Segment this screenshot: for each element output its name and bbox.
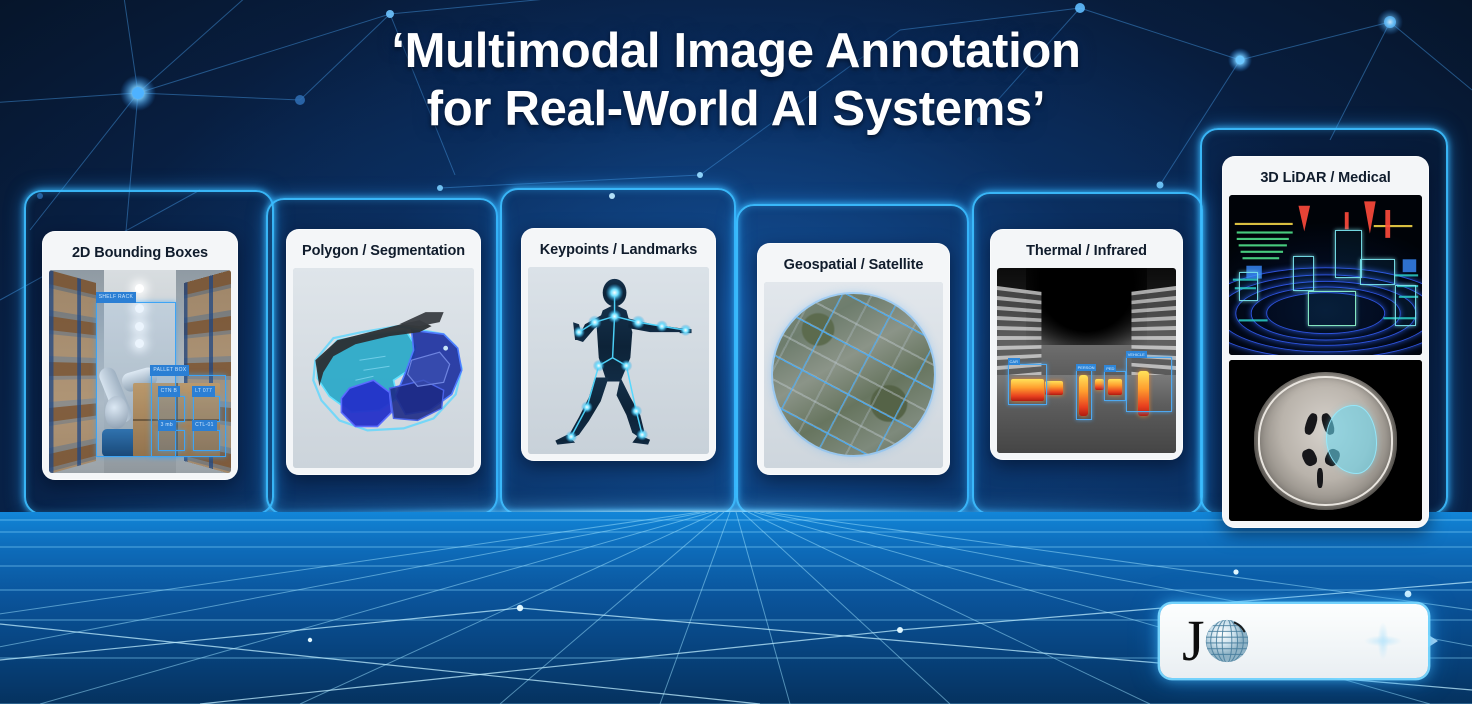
card-title: Geospatial / Satellite bbox=[764, 250, 943, 282]
card-3d-lidar-medical[interactable]: 3D LiDAR / Medical bbox=[1222, 156, 1429, 528]
card-image-satellite bbox=[764, 282, 943, 469]
card-images-lidar-mri bbox=[1229, 195, 1422, 522]
card-title: Polygon / Segmentation bbox=[293, 236, 474, 268]
card-title: Thermal / Infrared bbox=[997, 236, 1176, 268]
card-image-thermal: CAR PERSON VEHICLE PED bbox=[997, 268, 1176, 454]
card-image-polygon bbox=[293, 268, 474, 469]
bbox-label: CTL-01 bbox=[192, 420, 216, 431]
card-polygon-segmentation[interactable]: Polygon / Segmentation bbox=[286, 229, 481, 475]
card-keypoints-landmarks[interactable]: Keypoints / Landmarks bbox=[521, 228, 716, 461]
bbox-label: LT 077 bbox=[192, 386, 215, 397]
bbox-label: SHELF RACK bbox=[96, 292, 136, 303]
card-image-warehouse: SHELF RACK PALLET BOX CTN B LT 077 3 mb … bbox=[49, 270, 231, 474]
mri-brain-scan bbox=[1229, 360, 1422, 521]
title-line-2: for Real-World AI Systems’ bbox=[0, 80, 1472, 138]
logo-letter: J bbox=[1182, 615, 1205, 667]
card-2d-bounding-boxes[interactable]: 2D Bounding Boxes SHELF RACK bbox=[42, 231, 238, 480]
page-title: ‘Multimodal Image Annotation for Real-Wo… bbox=[0, 22, 1472, 138]
bbox-label: 3 mb bbox=[158, 420, 176, 431]
card-title: 3D LiDAR / Medical bbox=[1229, 163, 1422, 195]
card-thermal-infrared[interactable]: Thermal / Infrared CAR PERSON bbox=[990, 229, 1183, 460]
slide-canvas: ‘Multimodal Image Annotation for Real-Wo… bbox=[0, 0, 1472, 704]
lidar-point-cloud bbox=[1229, 195, 1422, 356]
thermal-label: PED bbox=[1104, 365, 1116, 372]
card-image-keypoints bbox=[528, 267, 709, 455]
thermal-label: VEHICLE bbox=[1126, 351, 1147, 358]
wireframe-globe-icon bbox=[1203, 617, 1251, 665]
satellite-disc bbox=[773, 294, 934, 455]
card-title: 2D Bounding Boxes bbox=[49, 238, 231, 270]
thermal-label: PERSON bbox=[1076, 364, 1097, 371]
card-geospatial-satellite[interactable]: Geospatial / Satellite bbox=[757, 243, 950, 475]
bbox-label: CTN B bbox=[158, 386, 181, 397]
sparkle-icon bbox=[1356, 614, 1410, 668]
bbox-label: PALLET BOX bbox=[150, 365, 189, 376]
title-line-1: ‘Multimodal Image Annotation bbox=[391, 24, 1080, 78]
card-title: Keypoints / Landmarks bbox=[528, 235, 709, 267]
brand-logo[interactable]: J bbox=[1160, 604, 1428, 678]
thermal-label: CAR bbox=[1008, 358, 1020, 365]
